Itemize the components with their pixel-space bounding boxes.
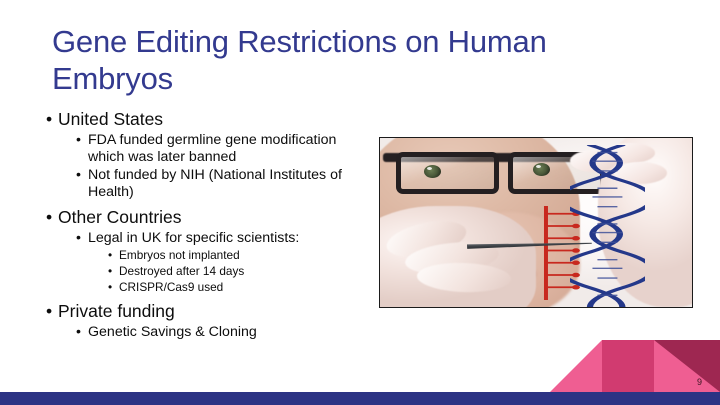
bullet-level3: •Destroyed after 14 days — [108, 263, 364, 279]
bullet-dot-icon: • — [108, 247, 119, 263]
bullet-level1-text: Private funding — [58, 300, 364, 323]
bullet-level1: •United States — [46, 108, 364, 131]
bullet-dot-icon: • — [46, 108, 58, 131]
slide: Gene Editing Restrictions on Human Embry… — [0, 0, 720, 405]
page-title: Gene Editing Restrictions on Human Embry… — [52, 24, 652, 97]
dna-helix-icon — [570, 145, 645, 307]
bullet-level2: •Legal in UK for specific scientists: — [76, 230, 364, 247]
bullet-level2: •Genetic Savings & Cloning — [76, 324, 364, 341]
bullet-level1-text: Other Countries — [58, 206, 364, 229]
corner-triangle-light-left — [550, 340, 602, 392]
bottom-accent-bar — [0, 392, 720, 405]
bullet-dot-icon: • — [76, 324, 88, 341]
bullet-level2: •Not funded by NIH (National Institutes … — [76, 167, 364, 201]
corner-block-dark-pink — [602, 340, 654, 392]
bullet-group: •Private funding•Genetic Savings & Cloni… — [46, 300, 364, 341]
bullet-group: •United States•FDA funded germline gene … — [46, 108, 364, 201]
bullet-level1: •Other Countries — [46, 206, 364, 229]
eye-left — [424, 165, 441, 178]
bullet-level2-text: Genetic Savings & Cloning — [88, 324, 364, 341]
bullet-level3-text: Destroyed after 14 days — [119, 263, 364, 279]
bullet-dot-icon: • — [46, 206, 58, 229]
page-number: 9 — [697, 377, 702, 387]
bullet-level1: •Private funding — [46, 300, 364, 323]
bullet-dot-icon: • — [108, 263, 119, 279]
bullet-level3: •Embryos not implanted — [108, 247, 364, 263]
bullet-level2-text: Not funded by NIH (National Institutes o… — [88, 167, 364, 201]
glasses-lens-left — [396, 152, 499, 194]
bullet-level3-text: CRISPR/Cas9 used — [119, 279, 364, 295]
bullet-dot-icon: • — [76, 132, 88, 149]
bullet-level2: •FDA funded germline gene modification w… — [76, 132, 364, 166]
bullet-level2-text: FDA funded germline gene modification wh… — [88, 132, 364, 166]
bullet-dot-icon: • — [76, 167, 88, 184]
bullet-level1-text: United States — [58, 108, 364, 131]
bullet-dot-icon: • — [46, 300, 58, 323]
bullet-content: •United States•FDA funded germline gene … — [46, 106, 364, 341]
corner-decoration: 9 — [550, 340, 720, 392]
bullet-level3-text: Embryos not implanted — [119, 247, 364, 263]
gene-editing-photo — [380, 138, 692, 307]
photo-frame — [379, 137, 693, 308]
bullet-group: •Other Countries•Legal in UK for specifi… — [46, 206, 364, 295]
bullet-level2-text: Legal in UK for specific scientists: — [88, 230, 364, 247]
bullet-dot-icon: • — [108, 279, 119, 295]
bullet-level3: •CRISPR/Cas9 used — [108, 279, 364, 295]
bullet-dot-icon: • — [76, 230, 88, 247]
